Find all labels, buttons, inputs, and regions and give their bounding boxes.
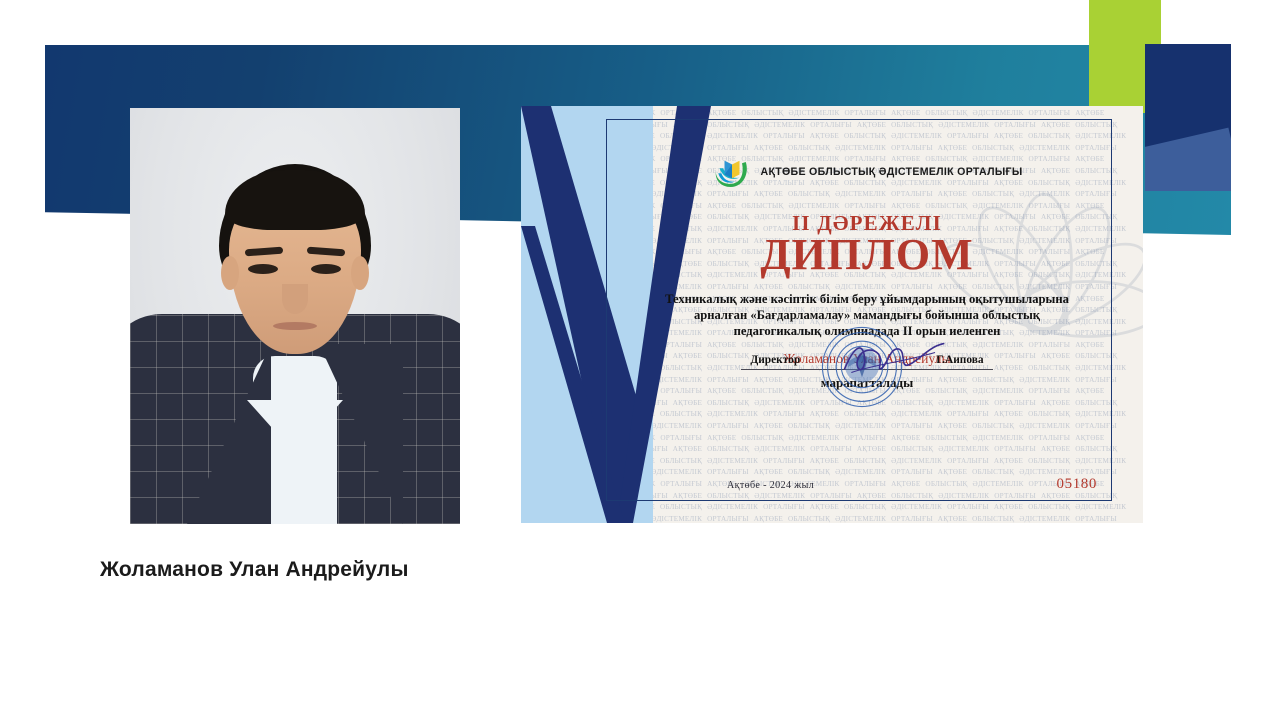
portrait-ear-left <box>221 256 239 290</box>
navy-accent-band <box>1145 128 1231 191</box>
body-line-3-post: иеленген <box>946 324 1000 338</box>
handwritten-signature <box>841 338 949 378</box>
organization-logo-icon <box>712 152 752 192</box>
navy-accent-block <box>1145 44 1231 191</box>
portrait-ear-right <box>351 256 369 290</box>
portrait-photo <box>130 108 460 524</box>
diploma-body-line-1: Техникалық және кәсіптік білім беру ұйым… <box>637 291 1097 307</box>
jacket-lapel-right <box>319 344 403 524</box>
portrait-mouth <box>273 322 317 330</box>
diploma-certificate-image: АҚТӨБЕ ОБЛЫСТЫҚ ӘДІСТЕМЕЛІК ОРТАЛЫҒЫ АҚТ… <box>521 106 1143 523</box>
diploma-footer: Ақтөбе - 2024 жыл 05180 <box>631 476 1103 493</box>
place-and-year: Ақтөбе - 2024 жыл <box>727 480 814 491</box>
diploma-title: ДИПЛОМ <box>631 232 1103 278</box>
organization-name: АҚТӨБЕ ОБЛЫСТЫҚ ӘДІСТЕМЕЛІК ОРТАЛЫҒЫ <box>761 166 1023 178</box>
serial-number: 05180 <box>1057 476 1098 493</box>
portrait-eye-left <box>248 264 278 274</box>
slide-canvas: АҚТӨБЕ ОБЛЫСТЫҚ ӘДІСТЕМЕЛІК ОРТАЛЫҒЫ АҚТ… <box>0 0 1270 706</box>
signature-label: Директор <box>750 354 800 366</box>
diploma-header: АҚТӨБЕ ОБЛЫСТЫҚ ӘДІСТЕМЕЛІК ОРТАЛЫҒЫ <box>631 152 1103 192</box>
diploma-content: АҚТӨБЕ ОБЛЫСТЫҚ ӘДІСТЕМЕЛІК ОРТАЛЫҒЫ II … <box>631 128 1103 499</box>
diploma-body-line-2: арналған «Бағдарламалау» мамандығы бойын… <box>637 307 1097 323</box>
portrait-eye-right <box>311 264 341 274</box>
portrait-nose <box>282 284 308 314</box>
page-title: Жоламанов Улан Андрейулы <box>100 558 409 582</box>
body-line-3-emphasis: II орын <box>903 324 946 338</box>
jacket-lapel-left <box>187 344 271 524</box>
